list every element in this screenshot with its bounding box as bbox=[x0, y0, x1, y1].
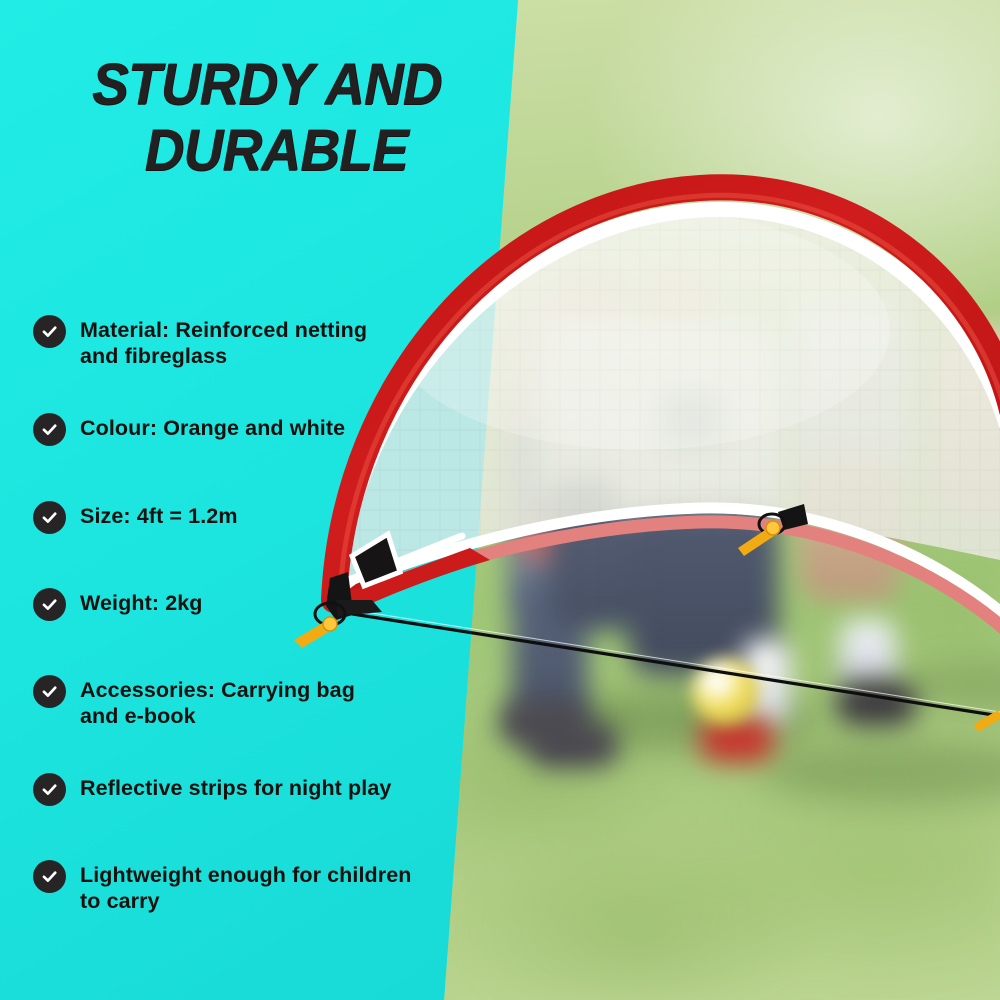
check-circle-icon bbox=[33, 315, 66, 348]
feature-label: Weight: 2kg bbox=[80, 587, 203, 616]
feature-label: Lightweight enough for children to carry bbox=[80, 859, 412, 914]
feature-label: Material: Reinforced netting and fibregl… bbox=[80, 314, 367, 369]
feature-item-colour: Colour: Orange and white bbox=[33, 412, 345, 446]
feature-item-lightweight: Lightweight enough for children to carry bbox=[33, 859, 412, 914]
feature-label: Accessories: Carrying bag and e-book bbox=[80, 674, 355, 729]
check-circle-icon bbox=[33, 413, 66, 446]
feature-item-reflective: Reflective strips for night play bbox=[33, 772, 391, 806]
text-content-layer: STURDY AND DURABLE Material: Reinforced … bbox=[0, 0, 1000, 1000]
feature-item-material: Material: Reinforced netting and fibregl… bbox=[33, 314, 367, 369]
infographic-canvas: STURDY AND DURABLE Material: Reinforced … bbox=[0, 0, 1000, 1000]
feature-label: Colour: Orange and white bbox=[80, 412, 345, 441]
check-circle-icon bbox=[33, 675, 66, 708]
feature-label: Reflective strips for night play bbox=[80, 772, 391, 801]
feature-item-accessories: Accessories: Carrying bag and e-book bbox=[33, 674, 355, 729]
check-circle-icon bbox=[33, 501, 66, 534]
check-circle-icon bbox=[33, 588, 66, 621]
feature-item-size: Size: 4ft = 1.2m bbox=[33, 500, 238, 534]
page-title: STURDY AND DURABLE bbox=[92, 52, 468, 184]
page-title-line-1: STURDY AND bbox=[92, 52, 442, 117]
page-title-line-2: DURABLE bbox=[92, 118, 468, 184]
check-circle-icon bbox=[33, 773, 66, 806]
feature-label: Size: 4ft = 1.2m bbox=[80, 500, 238, 529]
feature-item-weight: Weight: 2kg bbox=[33, 587, 203, 621]
check-circle-icon bbox=[33, 860, 66, 893]
